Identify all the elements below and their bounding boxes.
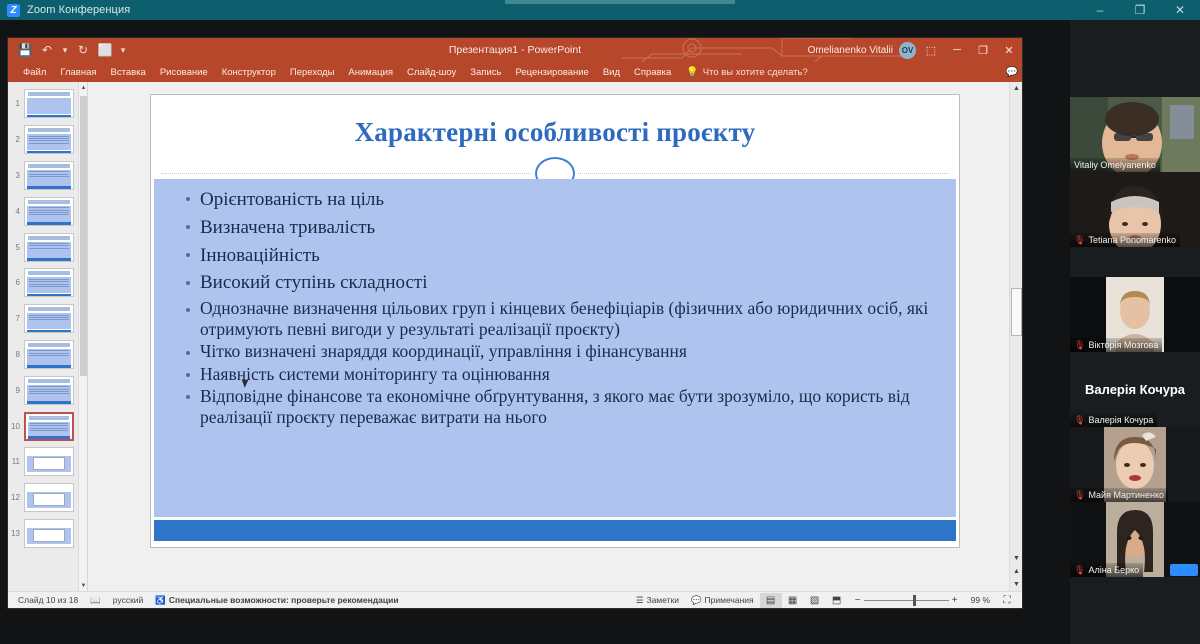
slide-thumbnail-pane[interactable]: 1 2 [8, 82, 88, 591]
previous-slide-icon[interactable]: ▼ [1010, 552, 1023, 565]
thumbnail-row[interactable]: 1 [8, 86, 87, 122]
thumbnail-title-band [28, 379, 70, 383]
slide-thumbnail[interactable] [24, 340, 74, 369]
thumbnail-number: 4 [10, 207, 24, 216]
thumbnail-title-band [29, 416, 69, 420]
microphone-muted-icon: 🎙 [1074, 341, 1085, 350]
powerpoint-window: 💾 ↶ ▾ ↻ ⬜ ▾ Презентация1 - PowerPoint Om… [8, 38, 1022, 608]
tab-home[interactable]: Главная [53, 67, 103, 78]
powerpoint-workspace: 1 2 [8, 82, 1022, 591]
tell-me-search[interactable]: 💡 Что вы хотите сделать? [686, 67, 807, 78]
lightbulb-icon: 💡 [686, 67, 698, 78]
thumbnail-title-band [28, 92, 70, 96]
zoom-in-button[interactable]: + [949, 595, 961, 606]
tab-review[interactable]: Рецензирование [508, 67, 595, 78]
zoom-minimize-button[interactable]: – [1080, 0, 1120, 20]
normal-view-button[interactable]: ▤ [760, 593, 782, 608]
participant-name: Валерія Кочура [1088, 415, 1153, 425]
thumbnail-number: 5 [10, 243, 24, 252]
participant-name-badge: 🎙 Аліна Берко [1070, 563, 1143, 577]
slide-thumbnail[interactable] [24, 89, 74, 118]
thumbnail-number: 3 [10, 171, 24, 180]
status-bar-right: ☰ Заметки 💬 Примечания ▤ ▦ ▧ ⬒ − + [630, 593, 1018, 608]
screen-share-thumbnail [1170, 564, 1198, 576]
thumbnail-footer-band [27, 222, 71, 225]
ribbon-display-options-icon[interactable]: ⬚ [918, 38, 944, 62]
zoom-meeting-toolbar-strip [505, 0, 735, 4]
powerpoint-status-bar: Слайд 10 из 18 📖 русский ♿ Специальные в… [8, 591, 1022, 608]
thumbnail-body [27, 206, 71, 222]
thumbnail-body [27, 170, 71, 186]
tab-transitions[interactable]: Переходы [283, 67, 342, 78]
tell-me-placeholder: Что вы хотите сделать? [703, 67, 808, 78]
participant-name: Майя Мартиненко [1088, 490, 1164, 500]
thumbnail-row[interactable]: 7 [8, 301, 87, 337]
thumbnail-number: 2 [10, 135, 24, 144]
slide-scrollbar-thumb[interactable] [1011, 288, 1022, 336]
slide-body-placeholder[interactable]: Орієнтованість на ціль Визначена тривалі… [154, 179, 956, 517]
slide-thumbnail[interactable] [24, 268, 74, 297]
customize-qat-icon[interactable]: ▾ [116, 40, 130, 60]
list-item: Однозначне визначення цільових груп і кі… [184, 298, 940, 340]
slide-thumbnail[interactable] [24, 161, 74, 190]
ribbon-tab-bar: Файл Главная Вставка Рисование Конструкт… [8, 62, 1022, 82]
microphone-muted-icon: 🎙 [1074, 566, 1085, 575]
powerpoint-close-button[interactable]: ✕ [996, 38, 1022, 62]
participant-name: Tetiana Ponomarenko [1088, 235, 1176, 245]
participant-name: Vitaliy Omelyanenko [1074, 160, 1156, 170]
tab-draw[interactable]: Рисование [153, 67, 215, 78]
thumbnail-title-band [28, 128, 70, 132]
microphone-muted-icon: 🎙 [1074, 416, 1085, 425]
notes-button[interactable]: ☰ Заметки [630, 595, 685, 606]
thumbnail-body [27, 98, 71, 114]
start-slideshow-icon[interactable]: ⬜ [94, 40, 116, 60]
notes-label: Заметки [646, 595, 679, 605]
thumbnail-body [27, 277, 71, 293]
zoom-out-button[interactable]: − [852, 595, 864, 606]
list-item: Визначена тривалість [184, 215, 940, 242]
account-area: Omelianenko Vitalii OV [808, 42, 918, 59]
participant-tile[interactable]: 🎙 Вікторія Мозгова [1070, 277, 1200, 352]
thumbnail-image-placeholder [33, 457, 65, 470]
list-item: Наявність системи моніторингу та оцінюва… [184, 364, 940, 385]
reading-view-button[interactable]: ▧ [804, 593, 826, 608]
zoom-window-controls: – ❐ ✕ [1080, 0, 1200, 20]
thumbnail-footer-band [27, 401, 71, 404]
list-item: Відповідне фінансове та економічне обґру… [184, 386, 940, 428]
thumbnail-row[interactable]: 8 [8, 337, 87, 373]
redo-icon[interactable]: ↻ [72, 40, 94, 60]
participant-name-badge: 🎙 Tetiana Ponomarenko [1070, 233, 1180, 247]
list-item: Інноваційність [184, 243, 940, 270]
thumbnail-row[interactable]: 5 [8, 229, 87, 265]
thumbnail-image-placeholder [33, 493, 65, 506]
comments-button[interactable]: 💬 Примечания [685, 595, 760, 606]
thumbnail-footer-band [27, 186, 71, 189]
tab-slideshow[interactable]: Слайд-шоу [400, 67, 463, 78]
participant-tile[interactable]: Vitaliy Omelyanenko [1070, 97, 1200, 172]
comments-label: Примечания [705, 595, 754, 605]
slide-footer-band [154, 520, 956, 541]
slideshow-button[interactable]: ⬒ [826, 593, 848, 608]
slide-counter[interactable]: Слайд 10 из 18 [12, 595, 84, 605]
thumbnail-row[interactable]: 2 [8, 122, 87, 158]
thumbnail-footer-band [27, 258, 71, 261]
thumbnail-scrollbar-thumb[interactable] [80, 96, 87, 376]
thumbnail-number: 11 [10, 457, 24, 466]
microphone-muted-icon: 🎙 [1074, 236, 1085, 245]
thumbnail-footer-band [27, 294, 71, 297]
save-icon[interactable]: 💾 [14, 40, 36, 60]
tab-design[interactable]: Конструктор [215, 67, 283, 78]
list-item: Високий ступінь складності [184, 270, 940, 297]
slide-sorter-button[interactable]: ▦ [782, 593, 804, 608]
tab-insert[interactable]: Вставка [104, 67, 153, 78]
undo-icon[interactable]: ↶ [36, 40, 58, 60]
slide-thumbnail[interactable] [24, 125, 74, 154]
thumbnail-footer-band [27, 330, 71, 333]
thumbnail-number: 6 [10, 278, 24, 287]
accessibility-label: Специальные возможности: проверьте реком… [169, 595, 399, 605]
language-indicator[interactable]: русский [107, 595, 150, 605]
thumbnail-title-band [28, 271, 70, 275]
zoom-logo-icon: Z [7, 4, 20, 17]
scroll-up-icon[interactable]: ▲ [79, 82, 88, 93]
participant-filmstrip: Vitaliy Omelyanenko 🎙 Tetiana Ponomarenk… [1070, 20, 1200, 644]
thumbnail-row[interactable]: 9 [8, 372, 87, 408]
accessibility-icon: ♿ [155, 595, 166, 606]
powerpoint-restore-button[interactable]: ❐ [970, 38, 996, 62]
thumbnail-body [27, 349, 71, 365]
screen: Z Zoom Конференция – ❐ ✕ 💾 [0, 0, 1200, 644]
participant-name-badge: 🎙 Валерія Кочура [1070, 413, 1157, 427]
thumbnail-row[interactable]: 11 [8, 444, 87, 480]
zoom-close-button[interactable]: ✕ [1160, 0, 1200, 20]
account-name[interactable]: Omelianenko Vitalii [808, 45, 893, 56]
thumbnail-body [28, 422, 70, 436]
thumbnail-row-selected[interactable]: 10 [8, 408, 87, 444]
thumbnail-number: 10 [10, 422, 24, 431]
thumbnail-image-placeholder [33, 529, 65, 542]
slide-thumbnail[interactable] [24, 447, 74, 476]
comment-bubble-icon: 💬 [691, 595, 702, 606]
tab-animations[interactable]: Анимация [341, 67, 400, 78]
scroll-prev-icon[interactable]: ▲ [1010, 565, 1023, 578]
spellcheck-icon[interactable]: 📖 [84, 595, 107, 606]
scroll-down-icon[interactable]: ▼ [79, 580, 88, 591]
quick-access-toolbar: 💾 ↶ ▾ ↻ ⬜ ▾ [8, 40, 130, 60]
thumbnail-row[interactable]: 6 [8, 265, 87, 301]
powerpoint-minimize-button[interactable]: ─ [944, 38, 970, 62]
scroll-up-icon[interactable]: ▲ [1010, 82, 1023, 95]
tab-help[interactable]: Справка [627, 67, 678, 78]
participant-name: Вікторія Мозгова [1088, 340, 1158, 350]
thumbnail-title-band [28, 307, 70, 311]
participant-name-badge: Vitaliy Omelyanenko [1070, 158, 1160, 172]
slide-thumbnail-current[interactable] [24, 412, 74, 441]
thumbnail-row[interactable]: 12 [8, 480, 87, 516]
participant-tile[interactable]: Валерія Кочура 🎙 Валерія Кочура [1070, 352, 1200, 427]
list-item: Орієнтованість на ціль [184, 187, 940, 214]
thumbnail-number: 8 [10, 350, 24, 359]
zoom-maximize-button[interactable]: ❐ [1120, 0, 1160, 20]
scroll-down-icon[interactable]: ▼ [1010, 578, 1023, 591]
participant-tile[interactable]: 🎙 Tetiana Ponomarenko [1070, 172, 1200, 247]
thumbnail-footer-band [28, 436, 70, 439]
thumbnail-title-band [28, 343, 70, 347]
thumbnail-row[interactable]: 3 [8, 158, 87, 194]
thumbnail-footer-band [27, 151, 71, 154]
thumbnail-number: 12 [10, 493, 24, 502]
thumbnail-row[interactable]: 4 [8, 193, 87, 229]
tab-record[interactable]: Запись [463, 67, 508, 78]
current-slide[interactable]: Характерні особливості проєкту Орієнтова… [150, 94, 960, 548]
slide-title[interactable]: Характерні особливості проєкту [151, 117, 959, 148]
zoom-window-title: Zoom Конференция [27, 4, 130, 16]
notes-icon: ☰ [636, 595, 644, 606]
slide-thumbnail[interactable] [24, 233, 74, 262]
comments-icon[interactable]: 💬 [1006, 67, 1022, 78]
undo-dropdown-icon[interactable]: ▾ [58, 40, 72, 60]
slide-thumbnail[interactable] [24, 519, 74, 548]
thumbnail-number: 1 [10, 99, 24, 108]
avatar[interactable]: OV [899, 42, 916, 59]
participant-name-badge: 🎙 Вікторія Мозгова [1070, 338, 1162, 352]
powerpoint-title-bar: 💾 ↶ ▾ ↻ ⬜ ▾ Презентация1 - PowerPoint Om… [8, 38, 1022, 62]
thumbnail-number: 7 [10, 314, 24, 323]
participant-tile[interactable]: 🎙 Майя Мартиненко [1070, 427, 1200, 502]
slide-thumbnail[interactable] [24, 304, 74, 333]
thumbnail-number: 9 [10, 386, 24, 395]
slide-scrollbar[interactable]: ▲ ▼ ▲ ▼ [1009, 82, 1022, 591]
thumbnail-title-band [28, 164, 70, 168]
fit-slide-to-window-button[interactable]: ⛶ [996, 593, 1018, 608]
thumbnail-footer-band [27, 365, 71, 368]
thumbnail-footer-band [27, 115, 71, 118]
list-item: Чітко визначені знаряддя координації, уп… [184, 341, 940, 362]
slide-thumbnail[interactable] [24, 376, 74, 405]
thumbnail-scrollbar[interactable]: ▲ ▼ [78, 82, 87, 591]
zoom-title-bar: Z Zoom Конференция – ❐ ✕ [0, 0, 1200, 20]
slide-editing-area[interactable]: Характерні особливості проєкту Орієнтова… [88, 82, 1022, 591]
slide-bullet-list: Орієнтованість на ціль Визначена тривалі… [154, 179, 956, 428]
microphone-muted-icon: 🎙 [1074, 491, 1085, 500]
thumbnail-body [27, 313, 71, 329]
tab-file[interactable]: Файл [16, 67, 53, 78]
accessibility-status[interactable]: ♿ Специальные возможности: проверьте рек… [149, 595, 404, 606]
tab-view[interactable]: Вид [596, 67, 627, 78]
slide-thumbnail[interactable] [24, 197, 74, 226]
participant-name-badge: 🎙 Майя Мартиненко [1070, 488, 1168, 502]
zoom-slider-track[interactable] [864, 600, 949, 601]
participant-tile[interactable]: 🎙 Аліна Берко [1070, 502, 1200, 577]
thumbnail-row[interactable]: 13 [8, 516, 87, 552]
participant-name: Аліна Берко [1088, 565, 1139, 575]
thumbnail-number: 13 [10, 529, 24, 538]
zoom-slider[interactable]: − + [852, 595, 961, 606]
zoom-level-label[interactable]: 99 % [965, 595, 996, 605]
thumbnail-body [27, 242, 71, 258]
thumbnail-body [27, 385, 71, 401]
zoom-slider-handle[interactable] [913, 595, 916, 606]
slide-thumbnail[interactable] [24, 483, 74, 512]
thumbnail-title-band [28, 236, 70, 240]
thumbnail-body [27, 134, 71, 150]
thumbnail-title-band [28, 200, 70, 204]
